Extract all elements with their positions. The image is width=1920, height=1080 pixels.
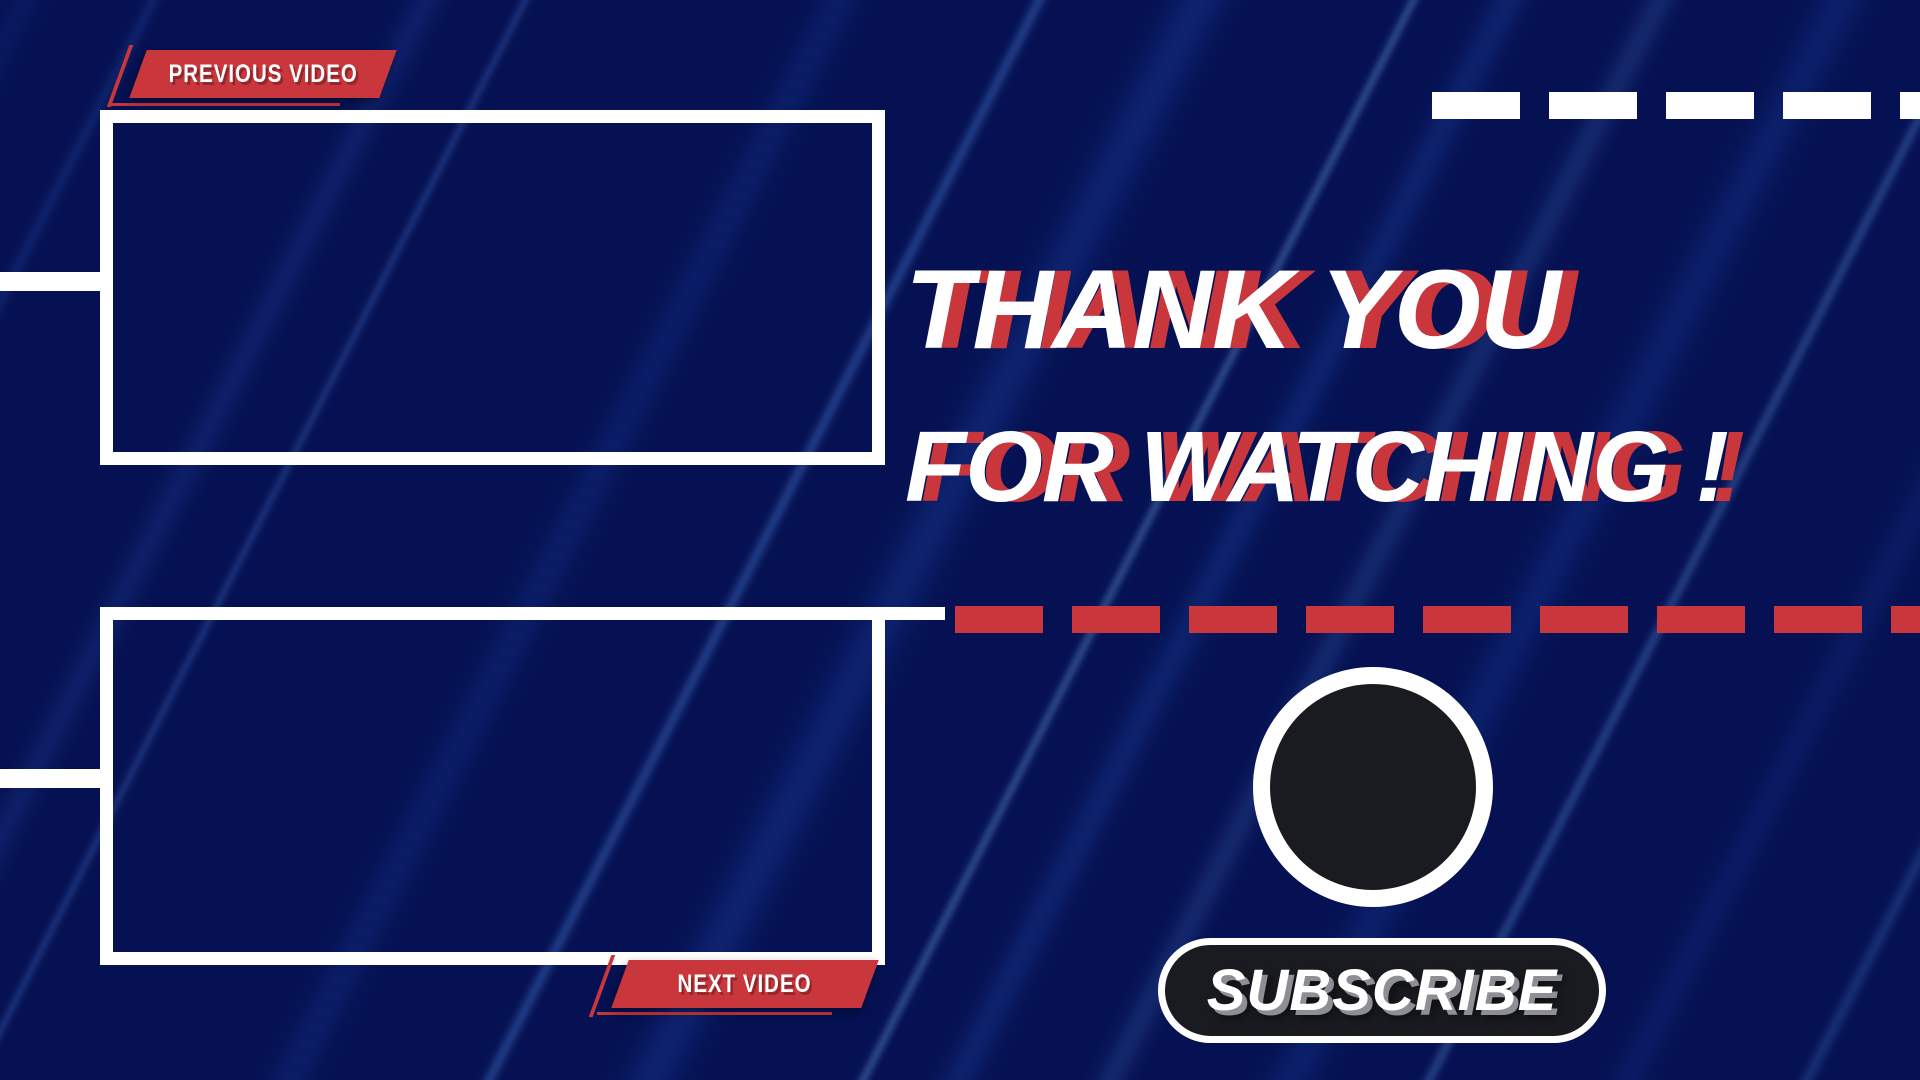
light-streak-8 [917,0,1920,1080]
thank-you-headline: THANK YOU FOR WATCHING ! [905,250,1905,521]
red-dash-1 [1072,606,1160,633]
subscribe-button-label: SUBSCRIBE [1207,957,1558,1024]
previous-video-badge[interactable]: PREVIOUS VIDEO [129,50,396,98]
next-video-frame-stub [885,607,945,620]
red-dashed-line [955,606,1920,633]
white-dash-2 [1666,92,1754,119]
channel-avatar[interactable] [1253,667,1493,907]
red-dash-6 [1657,606,1745,633]
light-streak-11 [1453,0,1920,1080]
light-streak-9 [1076,0,1920,1080]
light-streak-7 [754,0,1920,1080]
previous-video-badge-label: PREVIOUS VIDEO [168,60,357,89]
headline-line-2: FOR WATCHING ! [905,413,1905,521]
subscribe-button[interactable]: SUBSCRIBE [1158,938,1606,1043]
headline-line-1: THANK YOU [905,250,1905,371]
white-dash-3 [1783,92,1871,119]
next-video-left-tick [0,769,108,788]
next-video-accent-rule [597,1012,832,1015]
red-dash-7 [1774,606,1862,633]
red-dash-2 [1189,606,1277,633]
white-dash-0 [1432,92,1520,119]
red-dash-5 [1540,606,1628,633]
next-video-thumbnail-frame[interactable] [100,607,885,965]
previous-video-accent-rule [110,103,340,106]
end-screen-canvas: PREVIOUS VIDEO NEXT VIDEO THANK YOU FOR … [0,0,1920,1080]
previous-video-left-tick [0,272,108,291]
red-dash-8 [1891,606,1920,633]
red-dash-3 [1306,606,1394,633]
white-dashed-line [1432,92,1920,119]
light-streak-10 [1265,0,1920,1080]
white-dash-1 [1549,92,1637,119]
next-video-badge[interactable]: NEXT VIDEO [611,960,878,1008]
next-video-badge-label: NEXT VIDEO [678,970,812,999]
red-dash-4 [1423,606,1511,633]
previous-video-thumbnail-frame[interactable] [100,110,885,465]
red-dash-0 [955,606,1043,633]
white-dash-4 [1900,92,1920,119]
